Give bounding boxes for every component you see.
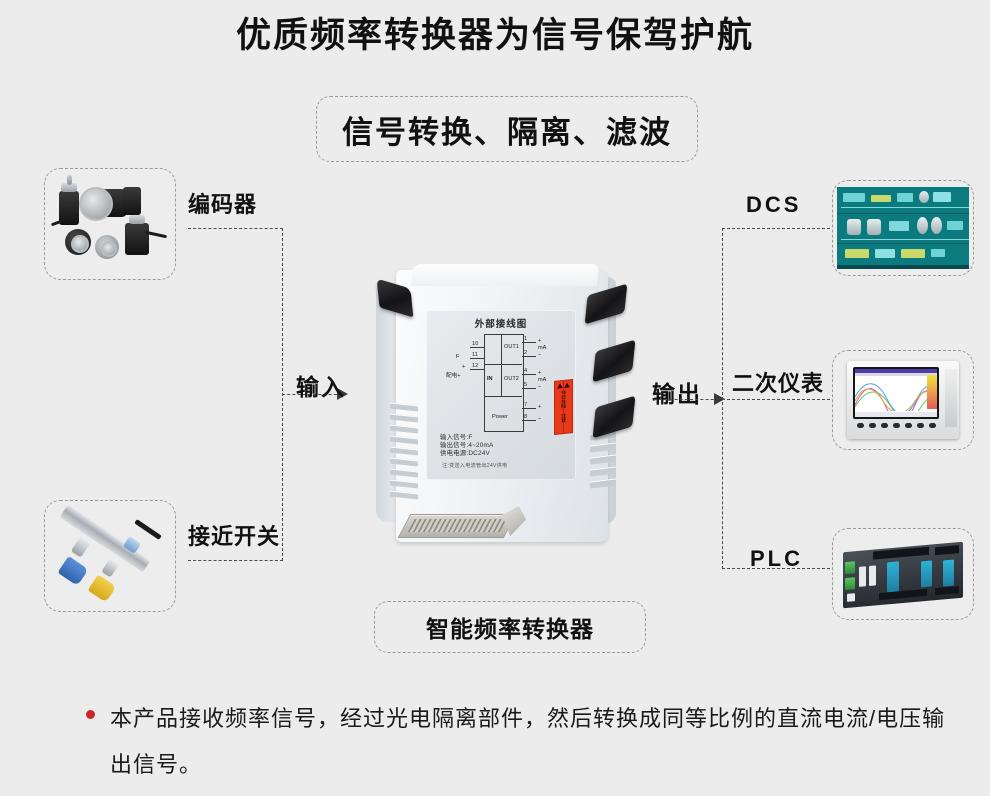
right-sign-1: +	[538, 338, 541, 344]
left-terminal-num-11: 11	[472, 352, 478, 358]
right-terminal-num-1: 1	[524, 336, 527, 342]
right-sign-7: +	[538, 404, 541, 410]
input-label-encoder: 编码器	[188, 187, 257, 219]
encoder-photo	[45, 169, 175, 279]
right-sign-5: −	[538, 384, 541, 390]
schematic-power-label: Power	[492, 414, 508, 420]
proximity-switch-photo	[45, 501, 175, 611]
plate-specifications: 输入信号:F 输出信号:4~20mA 供电电源:DC24V	[440, 434, 494, 459]
device-vent-slots-right	[590, 430, 616, 488]
schematic-out2-label: OUT2	[504, 376, 519, 382]
connector-bus-to-dcs	[722, 228, 830, 229]
schematic-out1-label: OUT1	[504, 344, 519, 350]
input-flow-label: 输入	[296, 368, 346, 402]
warning-sticker: 电击危险 注意	[554, 379, 573, 435]
right-terminal-num-8: 8	[524, 414, 527, 420]
trend-curves	[855, 377, 937, 411]
wiring-schematic: 10 11 12 F + 配电+ IN OUT1 OUT2 Power 1 2	[454, 334, 550, 430]
thumbnail-dcs	[832, 180, 974, 276]
right-unit-ma-1: mA	[538, 345, 546, 351]
product-description: 本产品接收频率信号，经过光电隔离部件，然后转换成同等比例的直流电流/电压输出信号…	[86, 696, 946, 788]
connector-proximity-to-bus	[188, 560, 283, 561]
right-sign-8: −	[538, 416, 541, 422]
thumbnail-plc	[832, 528, 974, 620]
device-caption-text: 智能频率转换器	[426, 610, 594, 644]
page-title: 优质频率转换器为信号保驾护航	[0, 14, 990, 58]
output-label-plc: PLC	[750, 546, 803, 572]
right-sign-4: +	[538, 370, 541, 376]
left-terminal-name-f: F	[456, 354, 459, 360]
frequency-converter-device: 外部接线图 10 11 12 F + 配电+ IN OUT1 OUT2 Po	[368, 262, 640, 562]
warning-triangle-icon	[564, 382, 570, 388]
bullet-icon	[86, 710, 95, 719]
left-terminal-num-10: 10	[472, 341, 478, 347]
right-terminal-num-4: 4	[524, 368, 527, 374]
left-terminal-num-12: 12	[472, 363, 478, 369]
device-caption-badge: 智能频率转换器	[374, 601, 646, 653]
output-label-secondary-instrument: 二次仪表	[732, 366, 824, 398]
device-top-shoulder	[411, 264, 599, 286]
right-terminal-num-5: 5	[524, 382, 527, 388]
subtitle-text: 信号转换、隔离、滤波	[342, 107, 672, 152]
output-flow-label: 输出	[652, 375, 702, 409]
thumbnail-proximity-switch	[44, 500, 176, 612]
connector-bus-to-meter	[722, 399, 830, 400]
thumbnail-recorder	[832, 350, 974, 450]
product-diagram-canvas: 优质频率转换器为信号保驾护航 信号转换、隔离、滤波 编码器	[0, 0, 990, 796]
device-vent-slots-left	[390, 403, 418, 500]
paperless-recorder-photo	[833, 351, 973, 449]
thumbnail-encoder	[44, 168, 176, 280]
sticker-divider	[563, 381, 564, 433]
product-description-text: 本产品接收频率信号，经过光电隔离部件，然后转换成同等比例的直流电流/电压输出信号…	[110, 696, 946, 788]
plate-note: 注:变送入电流管出24V供电	[442, 462, 507, 469]
right-unit-ma-2: mA	[538, 377, 546, 383]
din-rail-clip	[398, 514, 517, 538]
plate-title: 外部接线图	[426, 316, 576, 330]
connector-encoder-to-bus	[188, 228, 283, 229]
subtitle-badge: 信号转换、隔离、滤波	[316, 96, 698, 162]
plc-module-photo	[833, 529, 973, 619]
schematic-in-label: IN	[487, 376, 493, 382]
right-terminal-num-7: 7	[524, 402, 527, 408]
output-label-dcs: DCS	[746, 192, 801, 218]
right-sign-2: −	[538, 352, 541, 358]
right-terminal-num-2: 2	[524, 350, 527, 356]
left-terminal-name-supply: 配电+	[446, 373, 460, 379]
left-terminal-name-plus: +	[462, 364, 465, 370]
dcs-screen-photo	[833, 181, 973, 275]
input-label-proximity-switch: 接近开关	[188, 519, 280, 551]
